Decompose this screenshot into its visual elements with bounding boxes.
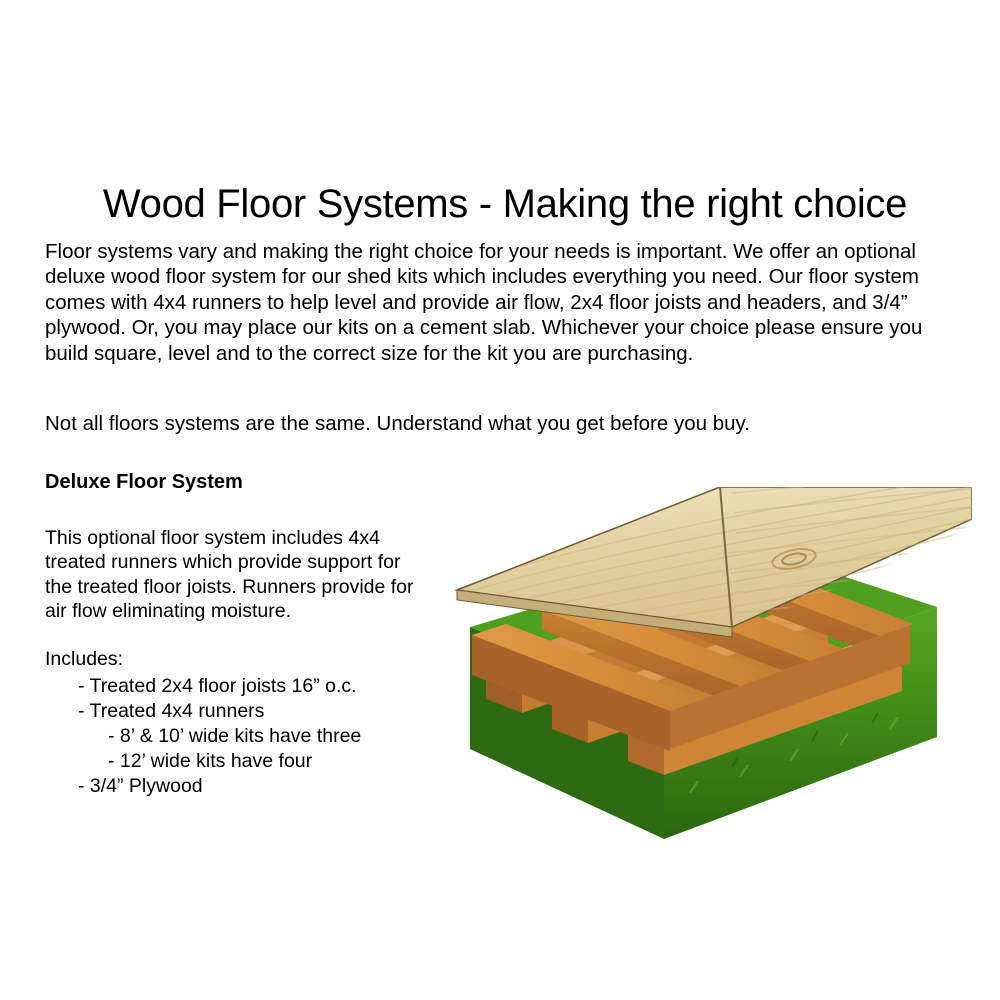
floor-system-illustration	[432, 487, 972, 847]
floor-frame-drawing	[432, 487, 972, 847]
list-item: - 8’ & 10’ wide kits have three	[45, 724, 465, 749]
section-heading: Deluxe Floor System	[45, 471, 243, 494]
list-item: - 12’ wide kits have four	[45, 749, 465, 774]
list-item: - 3/4” Plywood	[45, 774, 465, 799]
second-paragraph: Not all floors systems are the same. Und…	[45, 411, 945, 437]
document-page: Wood Floor Systems - Making the right ch…	[0, 0, 1000, 1000]
section-description: This optional floor system includes 4x4 …	[45, 526, 425, 624]
page-title: Wood Floor Systems - Making the right ch…	[45, 182, 965, 227]
list-item: - Treated 2x4 floor joists 16” o.c.	[45, 674, 465, 699]
includes-list: - Treated 2x4 floor joists 16” o.c. - Tr…	[45, 674, 465, 799]
includes-label: Includes:	[45, 648, 123, 671]
intro-paragraph: Floor systems vary and making the right …	[45, 239, 945, 367]
list-item: - Treated 4x4 runners	[45, 699, 465, 724]
